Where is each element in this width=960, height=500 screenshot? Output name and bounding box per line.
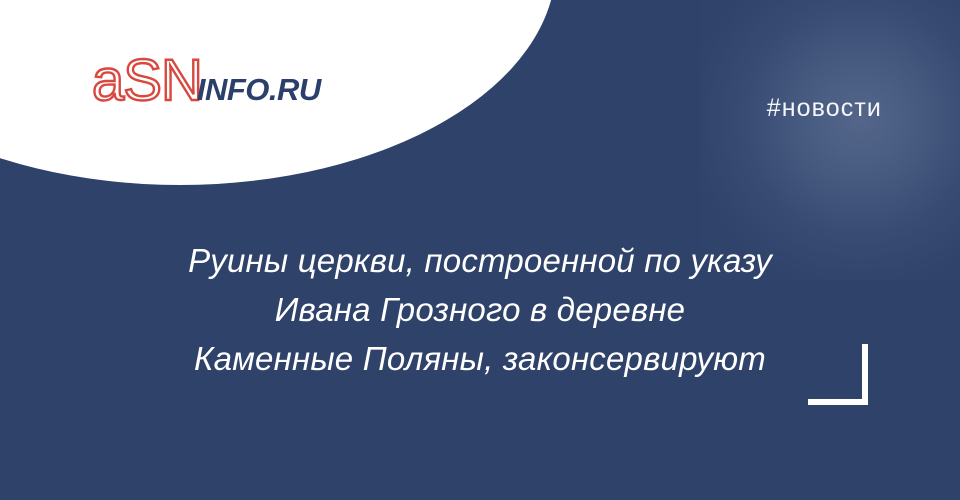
headline-line-2: Ивана Грозного в деревне — [80, 285, 880, 334]
headline-line-1: Руины церкви, построенной по указу — [80, 236, 880, 285]
headline: Руины церкви, построенной по указу Ивана… — [80, 236, 880, 383]
bracket-vertical-line — [862, 344, 868, 405]
hashtag-label: #новости — [767, 94, 882, 123]
headline-line-3: Каменные Поляны, законсервируют — [80, 334, 880, 383]
logo-mark-text: aSN — [92, 52, 202, 110]
logo-suffix-text: INFO.RU — [197, 74, 321, 105]
news-card: aSNINFO.RU #новости Руины церкви, постро… — [0, 0, 960, 500]
bracket-horizontal-line — [808, 399, 868, 405]
site-logo[interactable]: aSNINFO.RU — [92, 52, 321, 110]
corner-bracket-decoration — [808, 344, 868, 405]
